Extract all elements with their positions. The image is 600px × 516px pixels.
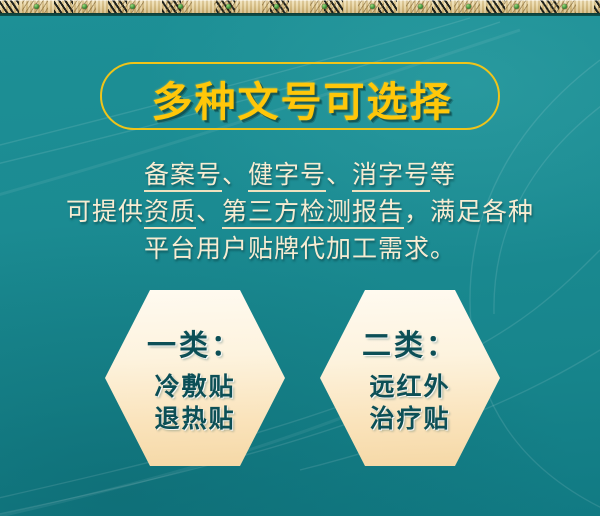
category-hexagon-two: 二类： 远红外 治疗贴: [320, 290, 500, 466]
body-segment: 、: [196, 197, 222, 226]
border-dot-icon: [418, 4, 423, 9]
category-one-item-1: 冷敷贴: [154, 371, 235, 403]
body-segment: ，满足各种: [404, 197, 534, 226]
border-dot-icon: [34, 4, 39, 9]
body-paragraph: 备案号、健字号、消字号等可提供资质、第三方检测报告，满足各种平台用户贴牌代加工需…: [24, 156, 576, 267]
border-green-dots: [0, 0, 600, 13]
border-dot-icon: [514, 4, 519, 9]
border-dot-icon: [274, 4, 279, 9]
body-segment: 可提供: [66, 197, 144, 226]
body-line: 备案号、健字号、消字号等: [24, 156, 576, 193]
body-segment-underlined: 备案号: [144, 160, 222, 192]
border-dot-icon: [130, 4, 135, 9]
border-dot-icon: [322, 4, 327, 9]
page-title: 多种文号可选择: [102, 64, 502, 132]
category-one-item-2: 退热贴: [154, 403, 235, 435]
body-segment-underlined: 消字号: [352, 160, 430, 192]
border-dot-icon: [562, 4, 567, 9]
top-decorative-border: [0, 0, 600, 16]
border-dot-icon: [178, 4, 183, 9]
headline-pill: 多种文号可选择: [100, 62, 500, 130]
body-segment: 、: [326, 160, 352, 189]
body-line: 可提供资质、第三方检测报告，满足各种: [24, 193, 576, 230]
body-line: 平台用户贴牌代加工需求。: [24, 230, 576, 267]
border-dot-icon: [370, 4, 375, 9]
body-segment-underlined: 资质: [144, 197, 196, 229]
border-dot-icon: [82, 4, 87, 9]
border-bottom-dark-edge: [0, 13, 600, 16]
category-one-heading: 一类：: [147, 322, 243, 364]
border-top-highlight: [0, 0, 600, 1]
body-segment: 平台用户贴牌代加工需求。: [144, 234, 456, 263]
body-segment-underlined: 健字号: [248, 160, 326, 192]
poster-canvas: 多种文号可选择 备案号、健字号、消字号等可提供资质、第三方检测报告，满足各种平台…: [0, 0, 600, 516]
category-two-item-2: 治疗贴: [369, 403, 450, 435]
category-two-content: 二类： 远红外 治疗贴: [320, 290, 500, 466]
category-two-item-1: 远红外: [369, 371, 450, 403]
border-dot-icon: [466, 4, 471, 9]
body-segment-underlined: 第三方检测报告: [222, 197, 404, 229]
border-dot-icon: [226, 4, 231, 9]
body-segment: 、: [222, 160, 248, 189]
category-one-content: 一类： 冷敷贴 退热贴: [105, 290, 285, 466]
body-segment: 等: [430, 160, 456, 189]
category-hexagon-one: 一类： 冷敷贴 退热贴: [105, 290, 285, 466]
category-two-heading: 二类：: [362, 322, 458, 364]
